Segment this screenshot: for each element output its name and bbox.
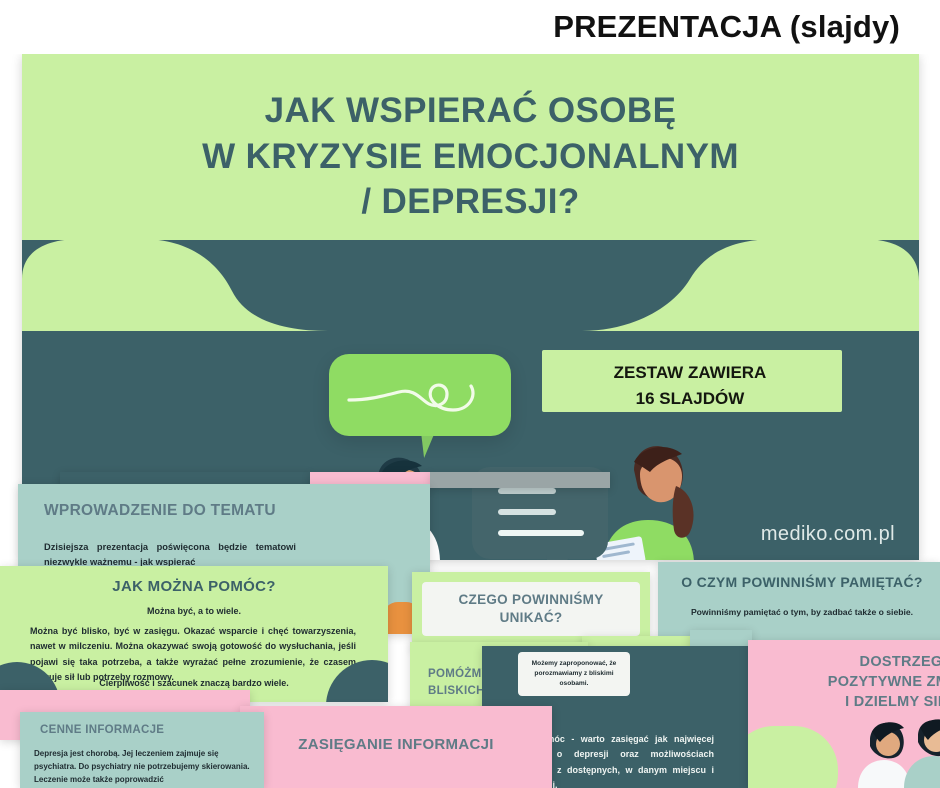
hero-subtitle: ZESTAW ZAWIERA 16 SLAJDÓW (570, 360, 810, 413)
slide-heading-line-1: DOSTRZEGAJMY (754, 652, 940, 672)
slide-heading: O CZYM POWINNIŚMY PAMIĘTAĆ? (670, 574, 934, 590)
slide-sliver-grey-top[interactable] (430, 472, 610, 488)
woman-with-clipboard-illustration (594, 432, 744, 560)
hero-subtitle-line-2: 16 SLAJDÓW (570, 386, 810, 412)
slide-body: Depresja jest chorobą. Jej leczeniem zaj… (34, 748, 250, 787)
hero-subtitle-line-1: ZESTAW ZAWIERA (570, 360, 810, 386)
slide-heading: CENNE INFORMACJE (40, 724, 164, 736)
slide-body: Powinniśmy pamiętać o tym, by zadbać tak… (668, 606, 936, 619)
screenshot-root: PREZENTACJA (slajdy) JAK WSPIERAĆ OSOBĘ … (0, 0, 940, 788)
slide-card-jak-mozna-pomoc[interactable]: JAK MOŻNA POMÓC? Można być, a to wiele. … (0, 566, 388, 702)
slide-lead: Można być, a to wiele. (0, 606, 388, 616)
page-title: PREZENTACJA (slajdy) (553, 9, 900, 45)
hero-title-line-1: JAK WSPIERAĆ OSOBĘ (22, 88, 919, 134)
slide-heading-line-2: POZYTYWNE ZMIANY (754, 672, 940, 692)
two-nurses-illustration (854, 714, 940, 788)
hero-title: JAK WSPIERAĆ OSOBĘ W KRYZYSIE EMOCJONALN… (22, 88, 919, 225)
slide-heading: WPROWADZENIE DO TEMATU (44, 502, 276, 520)
bubble-line-2 (498, 509, 556, 515)
thought-bubble-green (329, 354, 511, 436)
bubble-line-1 (498, 488, 556, 494)
slide-heading: CZEGO POWINNIŚMY UNIKAĆ? (458, 591, 603, 627)
decorative-lime-blob (748, 726, 838, 788)
slide-heading-line-3: I DZIELMY SIĘ NIMI (754, 692, 940, 712)
scribble-icon (343, 370, 497, 422)
note-text: Możemy zaproponować, że porozmawiamy z b… (521, 659, 627, 689)
hero-title-line-3: / DEPRESJI? (22, 179, 919, 225)
heading-panel: CZEGO POWINNIŚMY UNIKAĆ? (422, 582, 640, 636)
hero-title-line-2: W KRYZYSIE EMOCJONALNYM (22, 134, 919, 180)
callout-note: Możemy zaproponować, że porozmawiamy z b… (518, 652, 630, 696)
slide-card-cenne-informacje[interactable]: CENNE INFORMACJE Depresja jest chorobą. … (20, 712, 264, 788)
slide-heading: ZASIĘGANIE INFORMACJI (240, 736, 552, 753)
slide-card-zasieganie-informacji[interactable]: ZASIĘGANIE INFORMACJI (240, 706, 552, 788)
slide-card-dostrzegajmy[interactable]: DOSTRZEGAJMY POZYTYWNE ZMIANY I DZIELMY … (748, 640, 940, 788)
scalloped-edge-shape (22, 239, 919, 331)
slide-heading-line-2: UNIKAĆ? (458, 609, 603, 627)
bubble-line-3 (498, 530, 584, 536)
slide-heading: JAK MOŻNA POMÓC? (0, 578, 388, 595)
slide-body: Można być blisko, być w zasięgu. Okazać … (30, 624, 356, 685)
watermark: mediko.com.pl (761, 523, 895, 546)
page-header: PREZENTACJA (slajdy) (0, 0, 940, 54)
slide-heading-line-1: CZEGO POWINNIŚMY (458, 591, 603, 609)
slide-heading: DOSTRZEGAJMY POZYTYWNE ZMIANY I DZIELMY … (754, 652, 940, 712)
